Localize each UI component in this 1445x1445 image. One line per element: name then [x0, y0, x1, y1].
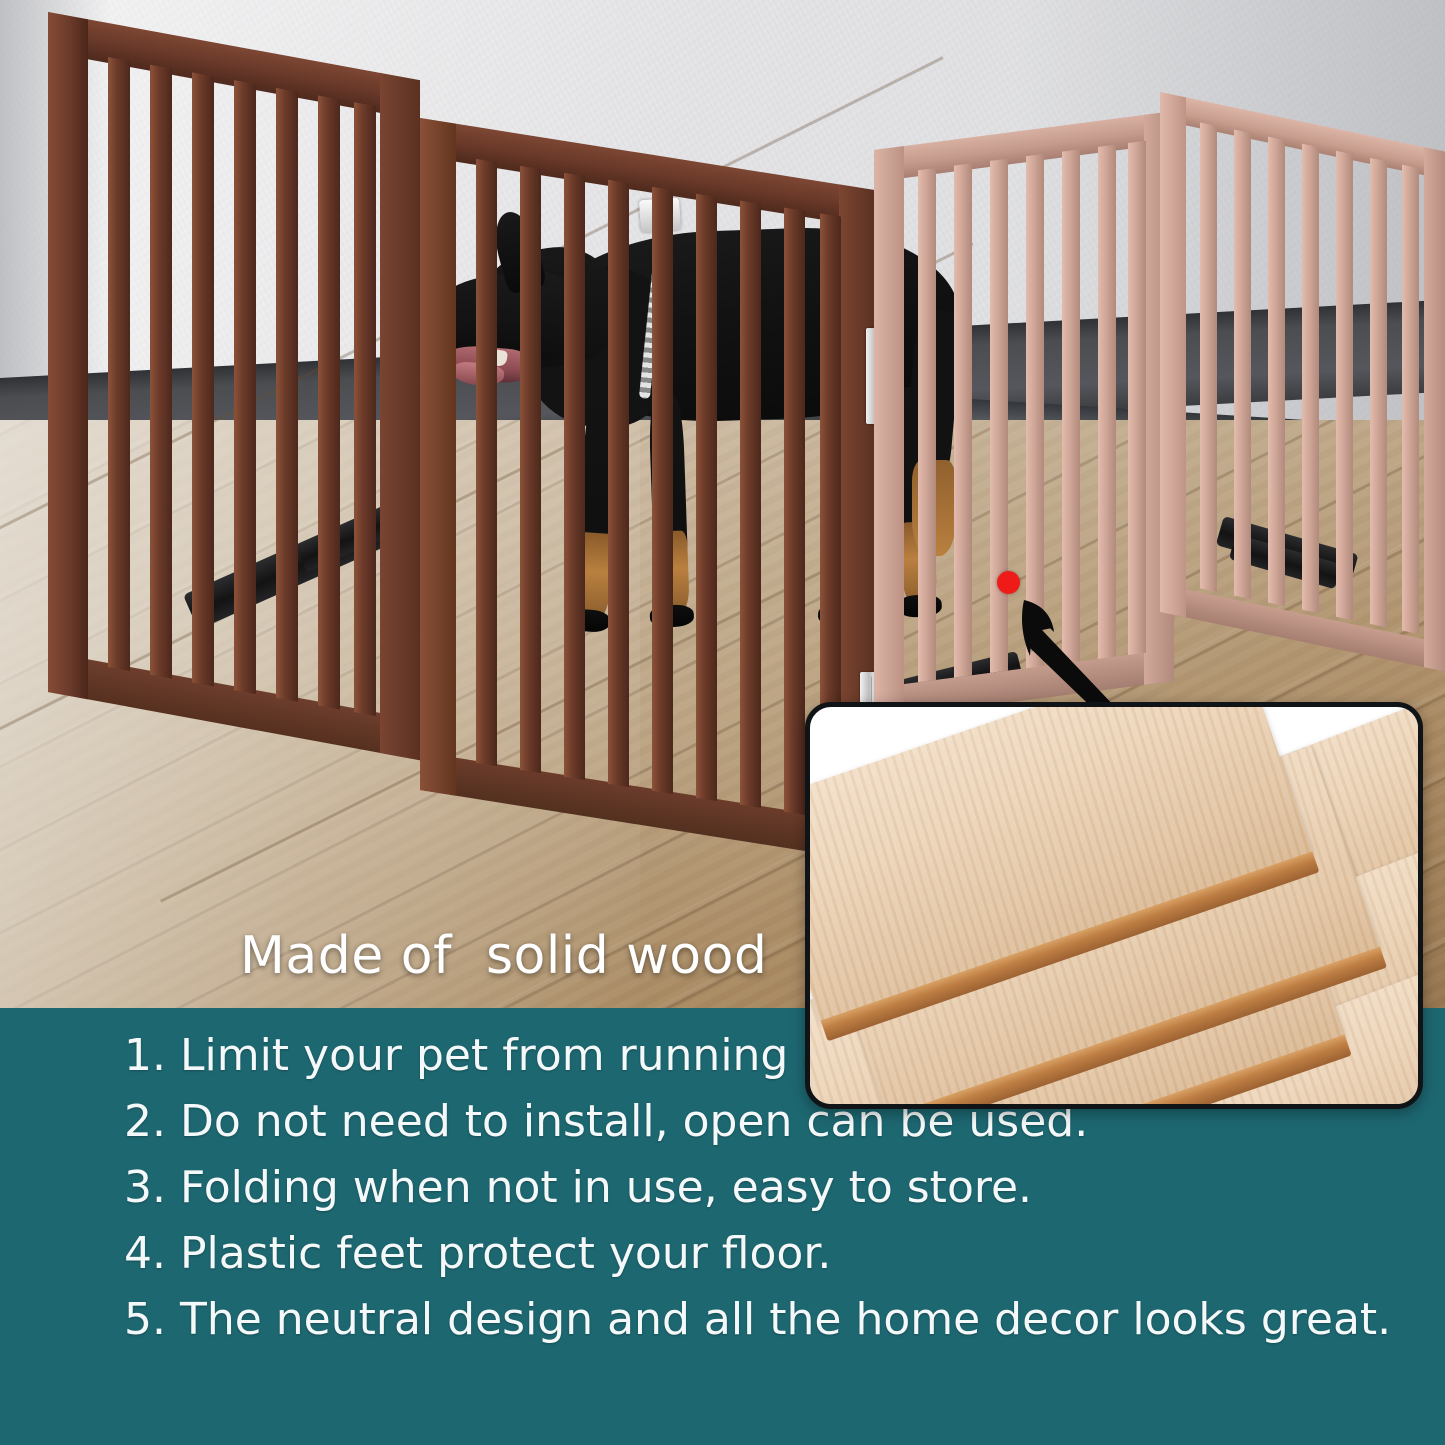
feature-item-5: 5. The neutral design and all the home d… — [124, 1298, 1384, 1342]
gate-slat — [1268, 137, 1285, 607]
gate-slat — [108, 57, 130, 671]
gate-slat — [954, 163, 972, 677]
gate-slat — [608, 180, 629, 787]
gate-slat — [1370, 158, 1387, 628]
panel-left-stile — [48, 12, 88, 699]
gate-slat — [1234, 129, 1251, 599]
solid-wood-inset-photo — [805, 702, 1423, 1109]
gate-panel-4 — [1160, 92, 1445, 673]
gate-slat — [1200, 122, 1217, 592]
gate-slat — [784, 208, 805, 815]
gate-slat — [1302, 144, 1319, 614]
gate-slat — [564, 173, 585, 780]
panel-right-stile — [380, 73, 420, 760]
gate-slat — [276, 88, 298, 702]
gate-slat — [1402, 165, 1419, 635]
gate-slat — [234, 80, 256, 694]
gate-panel-1 — [48, 12, 420, 760]
gate-slat — [192, 72, 214, 686]
panel-left-stile — [1160, 92, 1186, 617]
gate-slat — [520, 166, 541, 773]
panel-left-stile — [420, 118, 456, 796]
gate-slat — [696, 194, 717, 801]
gate-slat — [1336, 151, 1353, 621]
product-marketing-image: Made of solid wood 1. Limit your pet fro… — [0, 0, 1445, 1445]
gate-slat — [150, 65, 172, 679]
panel-left-stile — [874, 146, 904, 720]
gate-slat — [652, 187, 673, 794]
photo-caption: Made of solid wood — [240, 926, 767, 986]
gate-slat — [740, 201, 761, 808]
gate-slat — [476, 159, 497, 766]
feature-item-4: 4. Plastic feet protect your floor. — [124, 1232, 1384, 1276]
panel-right-stile — [1424, 147, 1445, 672]
feature-item-3: 3. Folding when not in use, easy to stor… — [124, 1166, 1384, 1210]
gate-slat — [918, 168, 936, 682]
gate-slat — [318, 96, 340, 710]
gate-slat — [354, 102, 376, 716]
